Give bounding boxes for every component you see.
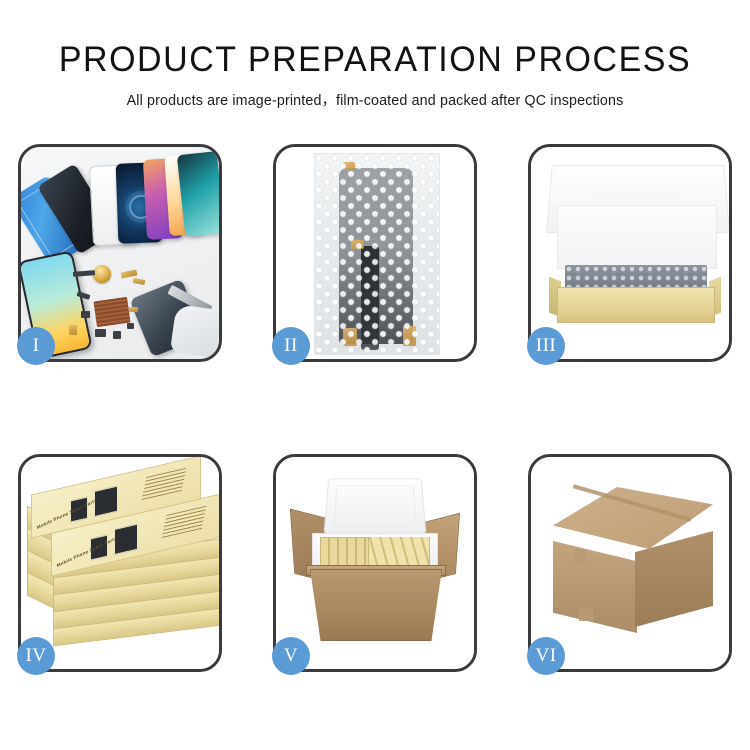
foam-box-lid — [324, 478, 427, 534]
bubble-wrap-bag — [314, 153, 440, 355]
header: PRODUCT PREPARATION PROCESS All products… — [0, 0, 750, 110]
bubble-texture — [315, 154, 439, 354]
process-step-panel-2[interactable]: II — [273, 144, 477, 362]
product-preparation-infographic: PRODUCT PREPARATION PROCESS All products… — [0, 0, 750, 750]
gold-flex-part-2 — [133, 278, 146, 285]
carton-left-face — [553, 541, 637, 633]
step-3-image — [531, 147, 729, 359]
step-badge-1: I — [17, 327, 55, 365]
process-step-panel-5[interactable]: V — [273, 454, 477, 672]
chip-part-2 — [81, 311, 90, 318]
carton-tape-lower — [579, 607, 593, 621]
process-step-panel-3[interactable]: III — [528, 144, 732, 362]
step-badge-5: V — [272, 637, 310, 675]
gold-flex-part-3 — [129, 307, 138, 312]
step-5-image — [276, 457, 474, 669]
teal-gradient-phone — [177, 151, 219, 237]
process-step-panel-4[interactable]: Mobile Phone Spare Parts Mobile Phone Sp… — [18, 454, 222, 672]
chip-part-5 — [127, 323, 134, 329]
chip-part-3 — [95, 329, 106, 337]
page-subtitle: All products are image-printed，film-coat… — [6, 79, 745, 110]
page-title: PRODUCT PREPARATION PROCESS — [11, 0, 739, 79]
process-step-panel-1[interactable]: I — [18, 144, 222, 362]
box-text-lines-1 — [142, 468, 187, 500]
step-badge-6: VI — [527, 637, 565, 675]
step-2-image — [276, 147, 474, 359]
box-label-line-2: Mobile Phone Spare Parts — [56, 536, 117, 568]
carton-tape-upper — [573, 549, 587, 563]
box-screen-graphic-2 — [94, 486, 118, 518]
step-6-image — [531, 457, 729, 669]
foam-sheet — [557, 205, 717, 269]
box-label-line-1: Mobile Phone Spare Parts — [36, 498, 97, 530]
yellow-box-front — [557, 287, 715, 323]
gold-flex-part-4 — [69, 325, 77, 335]
stacked-boxes: Mobile Phone Spare Parts Mobile Phone Sp… — [25, 467, 219, 663]
box-screen-graphic-4 — [114, 524, 138, 556]
chip-part-4 — [113, 331, 121, 339]
gold-connector-part — [93, 265, 111, 283]
step-1-image — [21, 147, 219, 359]
step-badge-2: II — [272, 327, 310, 365]
circuit-board-part — [93, 297, 130, 327]
step-badge-3: III — [527, 327, 565, 365]
box-text-lines-2 — [162, 506, 207, 538]
process-step-panel-6[interactable]: VI — [528, 454, 732, 672]
chip-part-1 — [73, 270, 95, 277]
step-4-image: Mobile Phone Spare Parts Mobile Phone Sp… — [21, 457, 219, 669]
process-step-grid: I II — [18, 144, 732, 672]
technician-hand — [170, 304, 219, 358]
step-badge-4: IV — [17, 637, 55, 675]
gold-flex-part-1 — [121, 269, 138, 278]
carton-front-panel — [310, 569, 442, 641]
